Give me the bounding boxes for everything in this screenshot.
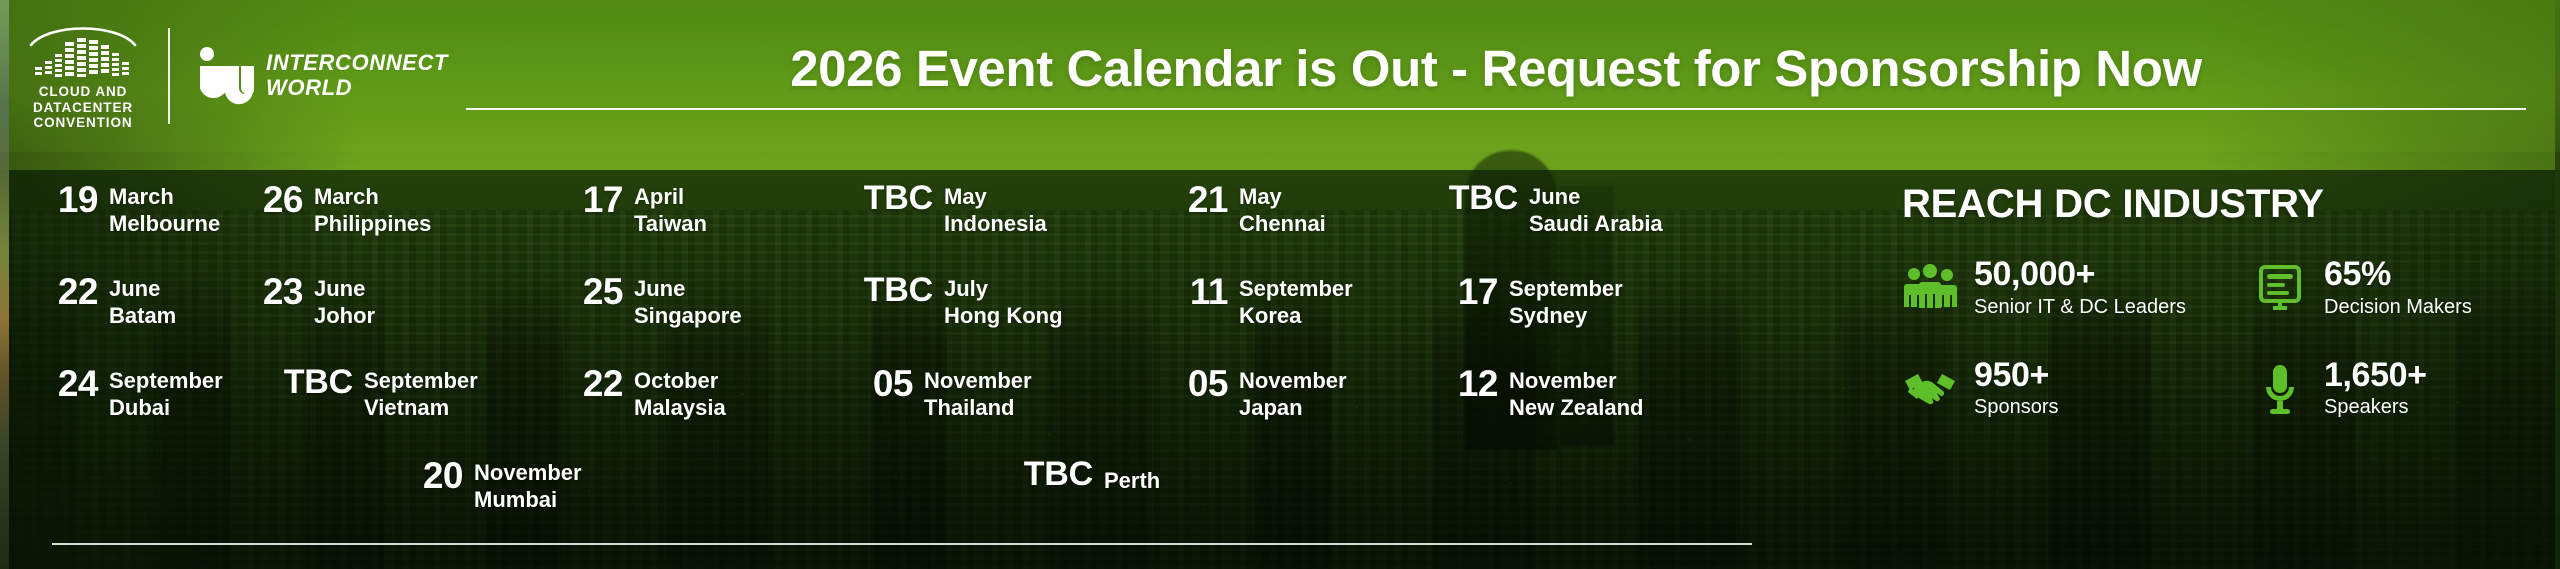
- event-month-city: May Indonesia: [944, 180, 1047, 238]
- event-month: September: [364, 367, 478, 394]
- stat-label: Senior IT & DC Leaders: [1974, 295, 2186, 320]
- event-city: New Zealand: [1509, 394, 1643, 421]
- calendar-row: 22 June Batam 23 June Johor 25: [40, 272, 1880, 364]
- event-day: 23: [245, 272, 303, 311]
- headline-block: 2026 Event Calendar is Out - Request for…: [466, 43, 2526, 110]
- event-month: March: [314, 183, 431, 210]
- event-month-city: September Vietnam: [364, 364, 478, 422]
- event-month-city: June Saudi Arabia: [1529, 180, 1663, 238]
- calendar-row: 19 March Melbourne 26 March Philippines …: [40, 180, 1880, 272]
- stat-speakers: 1,650+ Speakers: [2252, 358, 2520, 421]
- event-city: Philippines: [314, 210, 431, 237]
- banner-content: 19 March Melbourne 26 March Philippines …: [0, 152, 2560, 569]
- cdc-logo-wordmark: CLOUD AND DATACENTER CONVENTION: [33, 84, 133, 132]
- event-day: 21: [1170, 180, 1228, 219]
- calendar-event-perth[interactable]: TBC Perth: [865, 456, 1245, 526]
- calendar-event-malaysia[interactable]: 22 October Malaysia: [565, 364, 855, 456]
- event-city: Chennai: [1239, 210, 1326, 237]
- stats-grid: 50,000+ Senior IT & DC Leaders: [1902, 257, 2520, 420]
- stat-value: 50,000+: [1974, 257, 2186, 293]
- calendar-event-singapore[interactable]: 25 June Singapore: [565, 272, 855, 364]
- event-day: 05: [1170, 364, 1228, 403]
- calendar-event-taiwan[interactable]: 17 April Taiwan: [565, 180, 855, 272]
- event-month: October: [634, 367, 726, 394]
- event-city: Dubai: [109, 394, 223, 421]
- event-day: TBC: [855, 272, 933, 308]
- event-month-city: June Singapore: [634, 272, 742, 330]
- event-day: 26: [245, 180, 303, 219]
- calendar-event-korea[interactable]: 11 September Korea: [1170, 272, 1440, 364]
- event-city: Johor: [314, 302, 375, 329]
- event-city: Korea: [1239, 302, 1353, 329]
- handshake-icon: [1902, 361, 1958, 417]
- stat-value: 65%: [2324, 257, 2472, 293]
- event-day: 17: [565, 180, 623, 219]
- event-month-city: November Japan: [1239, 364, 1347, 422]
- event-month: November: [1239, 367, 1347, 394]
- stat-value: 950+: [1974, 358, 2059, 394]
- event-day: 24: [40, 364, 98, 403]
- logo-divider: [168, 28, 170, 124]
- stat-senior-it-dc-leaders: 50,000+ Senior IT & DC Leaders: [1902, 257, 2252, 320]
- event-month: July: [944, 275, 1063, 302]
- logo-lockup: CLOUD AND DATACENTER CONVENTION INTERCON…: [22, 21, 448, 132]
- event-month-city: March Melbourne: [109, 180, 220, 238]
- calendar-event-philippines[interactable]: 26 March Philippines: [245, 180, 565, 272]
- banner-headline: 2026 Event Calendar is Out - Request for…: [790, 43, 2202, 108]
- event-day: TBC: [855, 180, 933, 216]
- stat-sponsors: 950+ Sponsors: [1902, 358, 2252, 421]
- event-month: April: [634, 183, 707, 210]
- event-day: 20: [405, 456, 463, 495]
- stat-text: 1,650+ Speakers: [2324, 358, 2427, 421]
- event-city: Vietnam: [364, 394, 478, 421]
- event-month: September: [1509, 275, 1623, 302]
- event-month-city: June Batam: [109, 272, 176, 330]
- stat-label: Sponsors: [1974, 395, 2059, 420]
- event-month-city: September Dubai: [109, 364, 223, 422]
- headline-underline-rule: [466, 108, 2526, 110]
- event-month-city: July Hong Kong: [944, 272, 1063, 330]
- monitor-icon: [2252, 260, 2308, 316]
- stats-panel-title: REACH DC INDUSTRY: [1902, 182, 2520, 227]
- stat-value: 1,650+: [2324, 358, 2427, 394]
- cloud-datacenter-convention-logo[interactable]: CLOUD AND DATACENTER CONVENTION: [22, 21, 144, 132]
- event-month: June: [1529, 183, 1663, 210]
- calendar-event-mumbai[interactable]: 20 November Mumbai: [245, 456, 565, 526]
- event-day: 12: [1440, 364, 1498, 403]
- event-day: TBC: [1015, 456, 1093, 492]
- event-month-city: May Chennai: [1239, 180, 1326, 238]
- cdc-wordmark-line-2: DATACENTER: [33, 100, 133, 116]
- event-city: Melbourne: [109, 210, 220, 237]
- calendar-event-indonesia[interactable]: TBC May Indonesia: [855, 180, 1170, 272]
- iw-wordmark: INTERCONNECT WORLD: [266, 51, 448, 100]
- calendar-event-hong-kong[interactable]: TBC July Hong Kong: [855, 272, 1170, 364]
- calendar-event-sydney[interactable]: 17 September Sydney: [1440, 272, 1740, 364]
- stat-text: 950+ Sponsors: [1974, 358, 2059, 421]
- stat-text: 65% Decision Makers: [2324, 257, 2472, 320]
- event-day: 25: [565, 272, 623, 311]
- stat-decision-makers: 65% Decision Makers: [2252, 257, 2520, 320]
- event-month: November: [924, 367, 1032, 394]
- event-month: June: [314, 275, 375, 302]
- calendar-event-batam[interactable]: 22 June Batam: [40, 272, 245, 364]
- event-city: Singapore: [634, 302, 742, 329]
- event-month-city: October Malaysia: [634, 364, 726, 422]
- cdc-wordmark-line-3: CONVENTION: [33, 115, 133, 131]
- event-city: Malaysia: [634, 394, 726, 421]
- reach-stats-panel: REACH DC INDUSTRY 50,: [1880, 152, 2560, 569]
- event-calendar-grid: 19 March Melbourne 26 March Philippines …: [0, 152, 1880, 569]
- calendar-row: 24 September Dubai TBC September Vietnam…: [40, 364, 1880, 456]
- event-day: 19: [40, 180, 98, 219]
- datacenter-building-icon: [27, 21, 139, 79]
- event-month: Perth: [1104, 467, 1160, 494]
- microphone-icon: [2252, 361, 2308, 417]
- calendar-event-new-zealand[interactable]: 12 November New Zealand: [1440, 364, 1740, 456]
- event-month: June: [109, 275, 176, 302]
- event-day: TBC: [1440, 180, 1518, 216]
- event-day: 22: [40, 272, 98, 311]
- event-month: November: [1509, 367, 1643, 394]
- calendar-event-chennai[interactable]: 21 May Chennai: [1170, 180, 1440, 272]
- event-city: Japan: [1239, 394, 1347, 421]
- stat-label: Speakers: [2324, 395, 2427, 420]
- cdc-wordmark-line-1: CLOUD AND: [33, 84, 133, 100]
- event-city: Sydney: [1509, 302, 1623, 329]
- event-month: May: [1239, 183, 1326, 210]
- event-calendar-banner: CLOUD AND DATACENTER CONVENTION INTERCON…: [0, 0, 2560, 569]
- event-city: Batam: [109, 302, 176, 329]
- event-month: May: [944, 183, 1047, 210]
- calendar-event-vietnam[interactable]: TBC September Vietnam: [245, 364, 565, 456]
- event-month-city: June Johor: [314, 272, 375, 330]
- calendar-event-japan[interactable]: 05 November Japan: [1170, 364, 1440, 456]
- event-city: Saudi Arabia: [1529, 210, 1663, 237]
- event-day: 05: [855, 364, 913, 403]
- interconnect-world-logo[interactable]: INTERCONNECT WORLD: [196, 45, 448, 107]
- iw-wordmark-line-2: WORLD: [266, 76, 448, 101]
- calendar-event-thailand[interactable]: 05 November Thailand: [855, 364, 1170, 456]
- event-month-city: November Thailand: [924, 364, 1032, 422]
- event-city: Thailand: [924, 394, 1032, 421]
- banner-header: CLOUD AND DATACENTER CONVENTION INTERCON…: [0, 0, 2560, 152]
- event-city: Taiwan: [634, 210, 707, 237]
- event-month-city: September Korea: [1239, 272, 1353, 330]
- event-month: September: [1239, 275, 1353, 302]
- event-month-city: March Philippines: [314, 180, 431, 238]
- iw-monogram-icon: [196, 45, 254, 107]
- calendar-event-johor[interactable]: 23 June Johor: [245, 272, 565, 364]
- iw-wordmark-line-1: INTERCONNECT: [266, 51, 448, 76]
- calendar-row4-spacer-2: [565, 456, 865, 526]
- event-month: September: [109, 367, 223, 394]
- calendar-event-saudi-arabia[interactable]: TBC June Saudi Arabia: [1440, 180, 1740, 272]
- event-day: TBC: [275, 364, 353, 400]
- calendar-event-melbourne[interactable]: 19 March Melbourne: [40, 180, 245, 272]
- event-month: June: [634, 275, 742, 302]
- event-month-city: November New Zealand: [1509, 364, 1643, 422]
- calendar-row4-spacer: [40, 456, 245, 526]
- event-day: 11: [1170, 272, 1228, 311]
- bottom-divider-rule: [52, 543, 1752, 545]
- event-month: March: [109, 183, 220, 210]
- event-month-city: September Sydney: [1509, 272, 1623, 330]
- stat-label: Decision Makers: [2324, 295, 2472, 320]
- event-month-city: Perth: [1104, 456, 1160, 494]
- event-city: Indonesia: [944, 210, 1047, 237]
- people-icon: [1902, 260, 1958, 316]
- event-city: Hong Kong: [944, 302, 1063, 329]
- stat-text: 50,000+ Senior IT & DC Leaders: [1974, 257, 2186, 320]
- event-day: 22: [565, 364, 623, 403]
- event-month-city: April Taiwan: [634, 180, 707, 238]
- calendar-event-dubai[interactable]: 24 September Dubai: [40, 364, 245, 456]
- event-day: 17: [1440, 272, 1498, 311]
- calendar-row: 20 November Mumbai TBC Perth: [40, 456, 1880, 526]
